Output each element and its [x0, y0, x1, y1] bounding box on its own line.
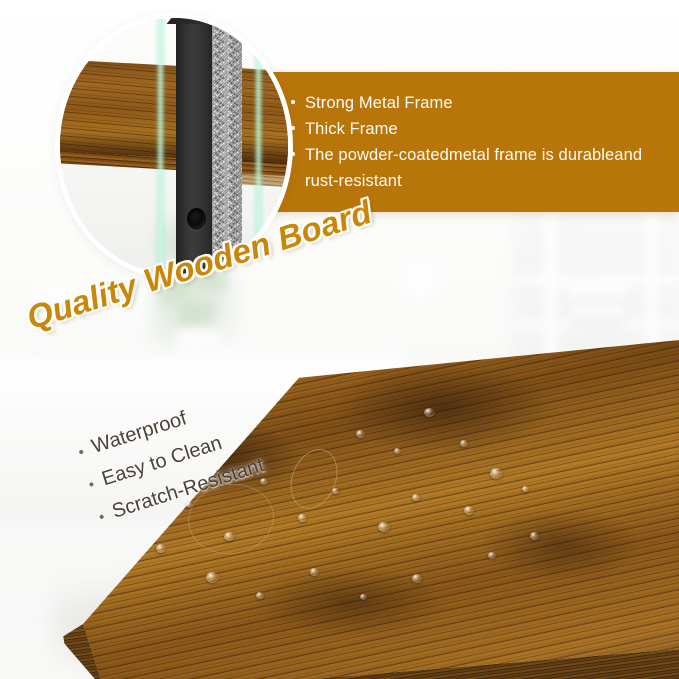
water-droplet	[488, 552, 496, 559]
banner-bullet-item: Thick Frame	[290, 116, 661, 142]
water-droplet	[490, 468, 503, 479]
banner-bullet-item: Strong Metal Frame	[290, 90, 661, 116]
banner-bullet-list: Strong Metal Frame Thick Frame The powde…	[290, 90, 661, 194]
water-droplet	[356, 430, 365, 438]
banner-bullet-item: The powder-coatedmetal frame is durablea…	[290, 142, 661, 168]
water-droplet	[156, 544, 166, 553]
banner-bullet-item-continuation: rust-resistant	[290, 168, 661, 194]
metal-post-top-cap	[167, 18, 242, 24]
metal-post-front-face	[176, 18, 212, 274]
water-droplet	[464, 506, 474, 515]
infographic-canvas: Strong Metal Frame Thick Frame The powde…	[0, 0, 679, 679]
water-droplet	[310, 568, 319, 576]
water-droplet	[360, 594, 367, 600]
screw-hole-icon	[187, 208, 206, 230]
water-droplet	[412, 574, 422, 583]
water-droplet	[522, 486, 529, 492]
water-droplet	[378, 522, 390, 532]
water-droplet	[412, 494, 420, 501]
water-droplet	[460, 440, 468, 447]
water-droplet	[394, 448, 401, 454]
water-droplet	[424, 408, 435, 417]
water-droplet	[530, 532, 539, 540]
water-droplet	[298, 514, 307, 522]
measurement-guide-line	[156, 18, 165, 274]
water-droplet	[256, 592, 264, 599]
water-droplet	[206, 572, 219, 583]
